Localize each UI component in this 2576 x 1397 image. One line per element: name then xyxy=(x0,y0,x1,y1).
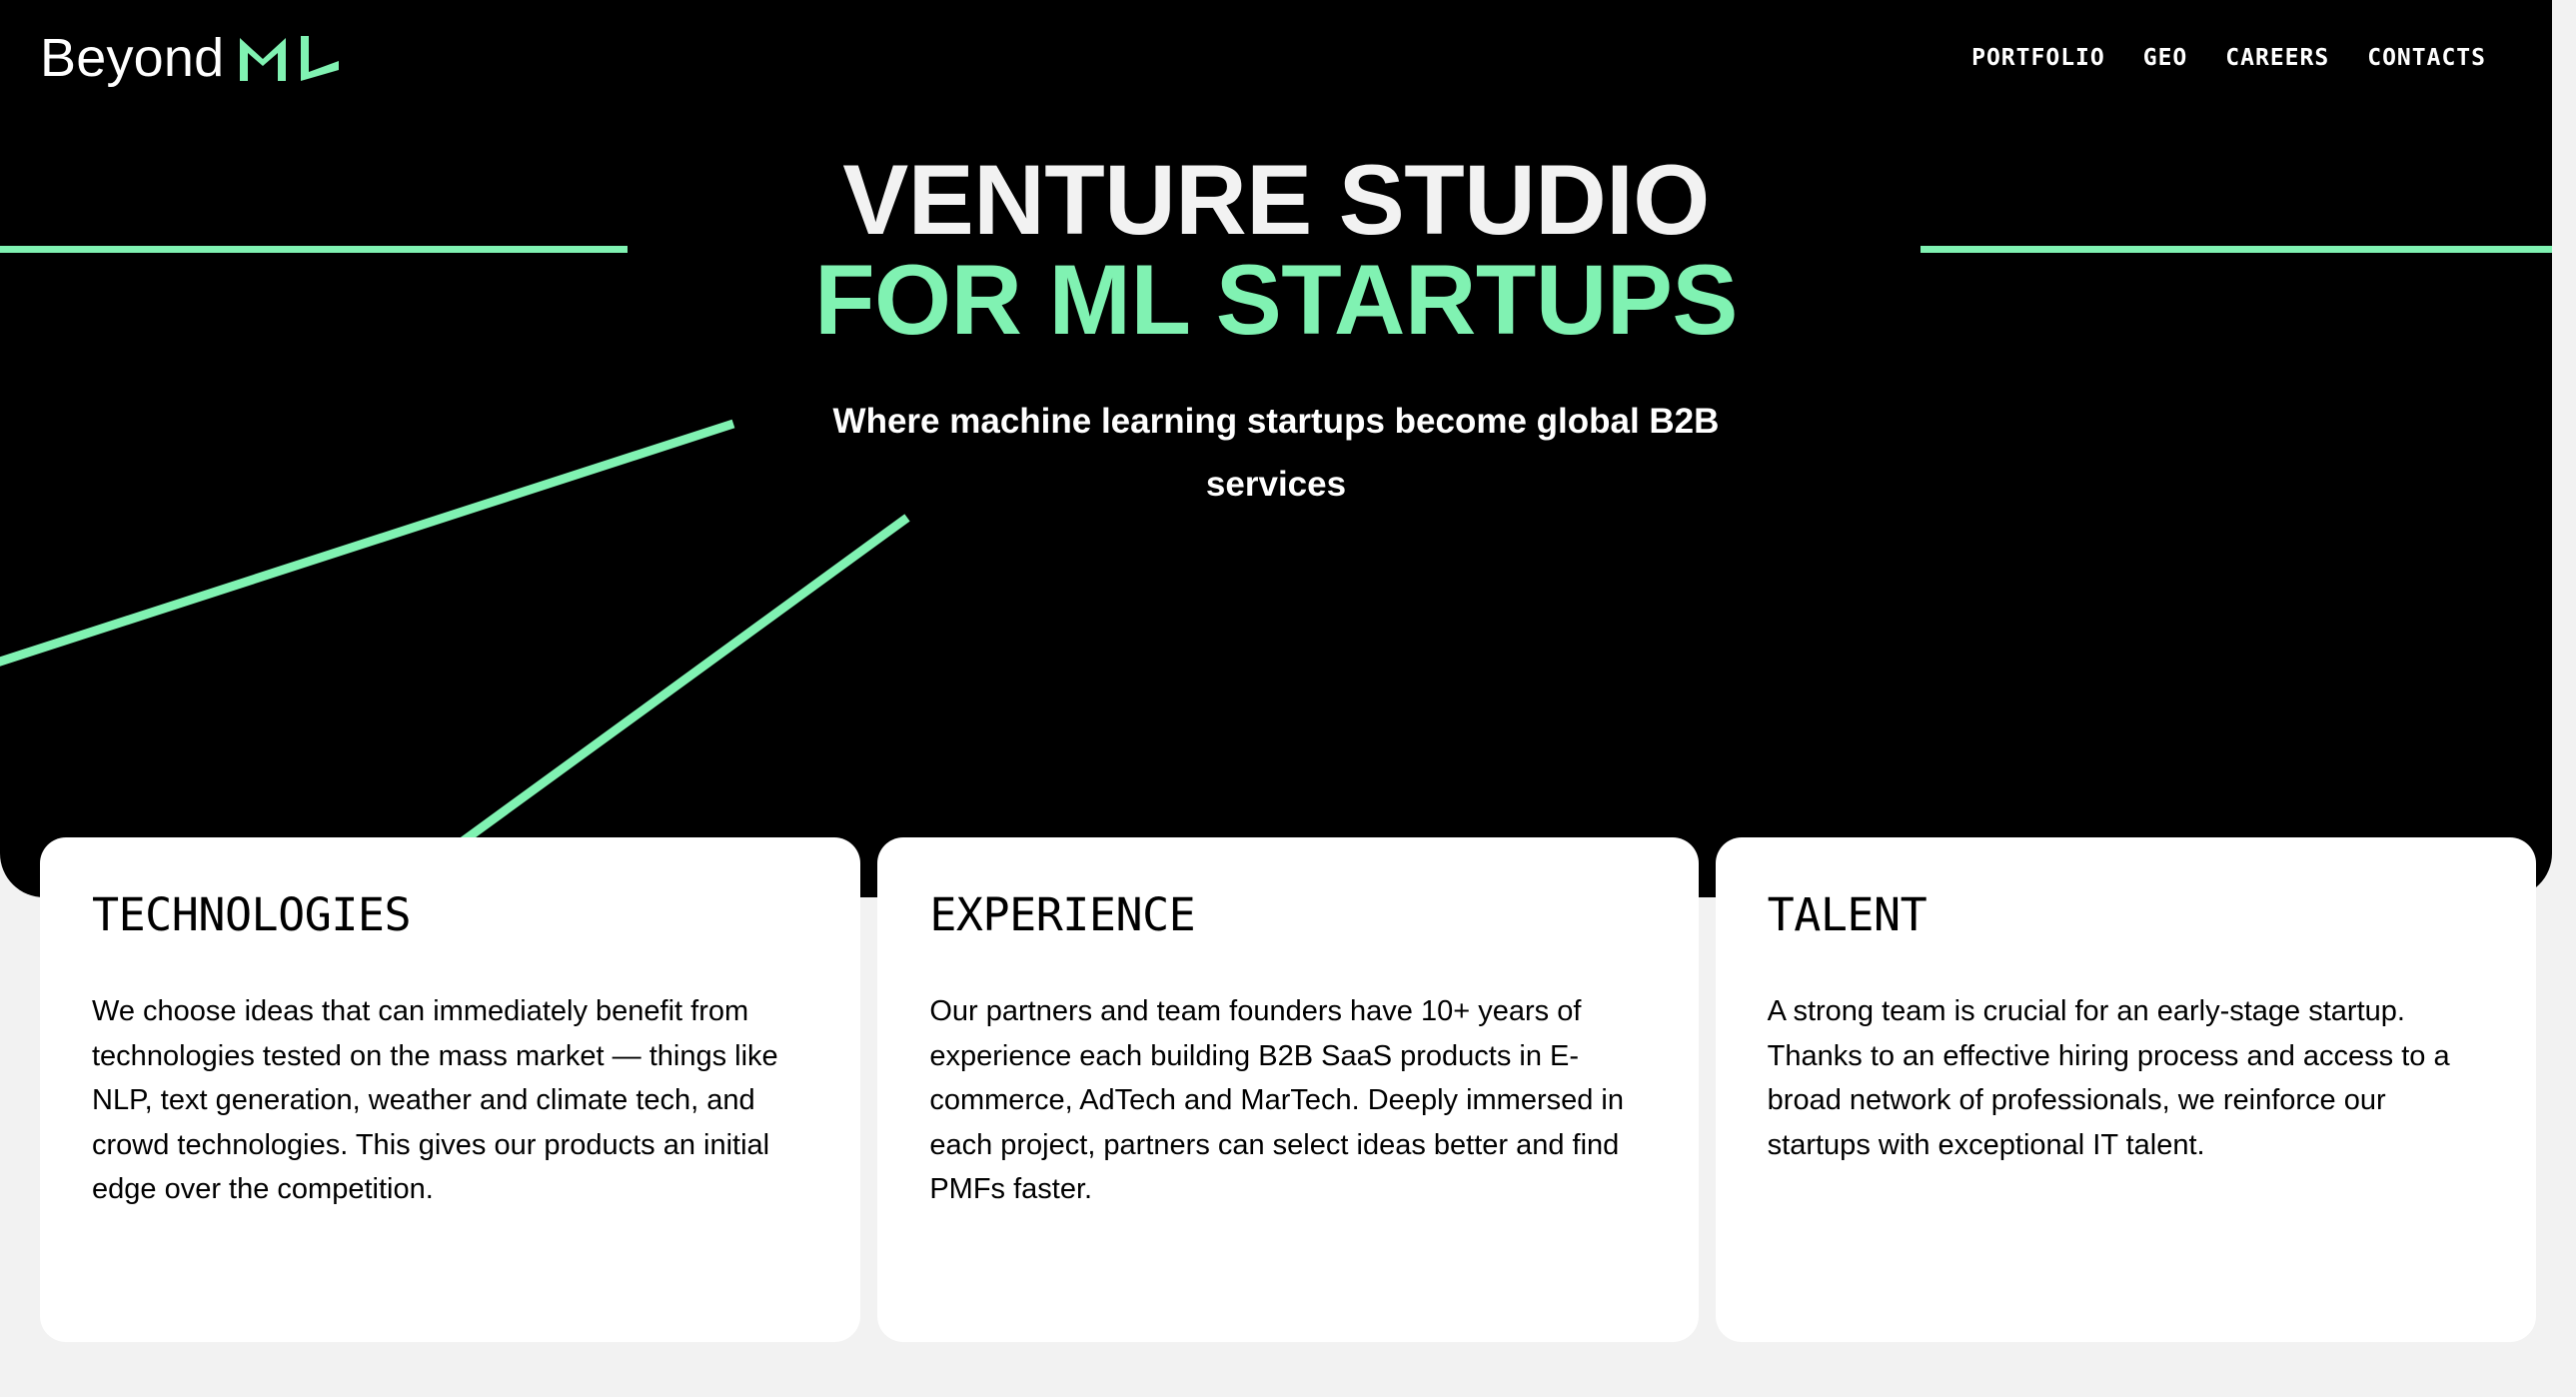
feature-card-technologies: TECHNOLOGIES We choose ideas that can im… xyxy=(40,837,860,1342)
hero-subtitle: Where machine learning startups become g… xyxy=(776,390,1776,516)
nav-links: PORTFOLIO GEO CAREERS CONTACTS xyxy=(1971,45,2486,71)
hero-headline-line-2: FOR ML STARTUPS xyxy=(0,250,2552,350)
feature-card-experience: EXPERIENCE Our partners and team founder… xyxy=(877,837,1698,1342)
feature-card-talent: TALENT A strong team is crucial for an e… xyxy=(1716,837,2536,1342)
card-body: A strong team is crucial for an early-st… xyxy=(1768,989,2481,1167)
nav-link-portfolio[interactable]: PORTFOLIO xyxy=(1971,45,2105,71)
hero-copy: VENTURE STUDIO FOR ML STARTUPS Where mac… xyxy=(0,150,2552,516)
beyond-ml-logomark-icon xyxy=(238,34,342,82)
diagonal-line-2 xyxy=(452,518,907,849)
hero-headline-line-1: VENTURE STUDIO xyxy=(0,150,2552,250)
card-body: Our partners and team founders have 10+ … xyxy=(929,989,1643,1212)
nav-link-careers[interactable]: CAREERS xyxy=(2225,45,2329,71)
nav-link-contacts[interactable]: CONTACTS xyxy=(2367,45,2486,71)
landing-page: Beyond PORTFOLIO GEO CAREERS CONTACTS VE… xyxy=(0,0,2576,1397)
logo[interactable]: Beyond xyxy=(40,27,342,89)
nav-link-geo[interactable]: GEO xyxy=(2143,45,2188,71)
logo-wordmark: Beyond xyxy=(40,31,224,85)
card-title: TALENT xyxy=(1768,892,2481,937)
card-title: EXPERIENCE xyxy=(929,892,1643,937)
hero-section: Beyond PORTFOLIO GEO CAREERS CONTACTS VE… xyxy=(0,0,2552,897)
feature-cards: TECHNOLOGIES We choose ideas that can im… xyxy=(40,837,2536,1342)
card-body: We choose ideas that can immediately ben… xyxy=(92,989,805,1212)
card-title: TECHNOLOGIES xyxy=(92,892,805,937)
navbar: Beyond PORTFOLIO GEO CAREERS CONTACTS xyxy=(0,0,2552,116)
